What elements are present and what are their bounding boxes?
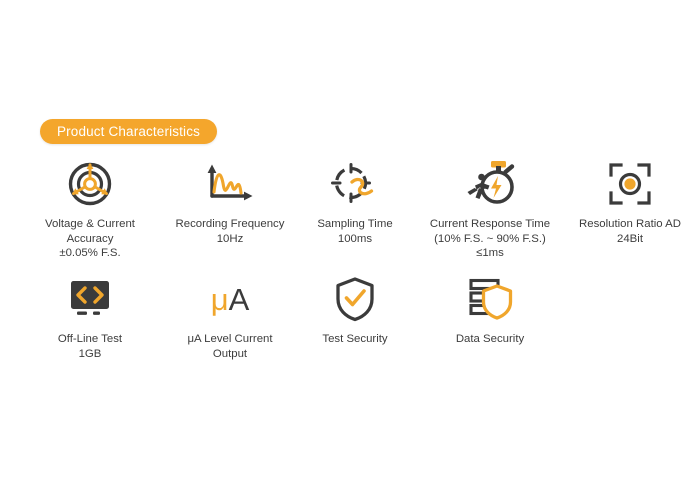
label-line: Voltage & Current [45,217,135,232]
ampere-symbol: A [229,282,250,317]
feature-label-current-response-time: Current Response Time (10% F.S. ~ 90% F.… [430,217,550,261]
label-line: (10% F.S. ~ 90% F.S.) [430,232,550,247]
label-line: ≤1ms [430,246,550,261]
feature-item-micro-ampere-output: μA μA Level Current Output [165,273,295,361]
page-title-badge: Product Characteristics [40,119,217,144]
label-line: Recording Frequency [176,217,285,232]
feature-item-recording-frequency: Recording Frequency 10Hz [165,158,295,261]
label-line: Output [187,347,272,362]
label-line: 100ms [317,232,392,247]
label-line: Resolution Ratio AD [579,217,681,232]
feature-label-sampling-time: Sampling Time 100ms [317,217,392,246]
product-characteristics-page: { "page": { "background_color": "#ffffff… [0,0,700,500]
feature-row-bottom: Off-Line Test 1GB μA μA Level Current Ou… [0,273,700,361]
label-line: Current Response Time [430,217,550,232]
feature-item-sampling-time: Sampling Time 100ms [295,158,415,261]
feature-item-offline-test: Off-Line Test 1GB [15,273,165,361]
stopwatch-runner-icon [462,158,518,210]
label-line: Sampling Time [317,217,392,232]
accuracy-target-icon [62,158,118,210]
label-line: Test Security [322,332,387,347]
label-line: Off-Line Test [58,332,122,347]
page-title: Product Characteristics [57,125,200,139]
waveform-axes-icon [202,158,258,210]
mu-symbol: μ [211,282,229,317]
label-line: 1GB [58,347,122,362]
database-shield-icon [462,273,518,325]
focus-frame-icon [602,158,658,210]
label-line: 10Hz [176,232,285,247]
label-line: Data Security [456,332,524,347]
feature-item-data-security: Data Security [415,273,565,361]
label-line: Accuracy [45,232,135,247]
feature-label-accuracy: Voltage & Current Accuracy ±0.05% F.S. [45,217,135,261]
code-chip-icon [62,273,118,325]
shield-check-icon [327,273,383,325]
label-line: μA Level Current [187,332,272,347]
feature-label-offline-test: Off-Line Test 1GB [58,332,122,361]
feature-label-data-security: Data Security [456,332,524,347]
feature-item-current-response-time: Current Response Time (10% F.S. ~ 90% F.… [415,158,565,261]
feature-label-resolution-ratio: Resolution Ratio AD 24Bit [579,217,681,246]
feature-label-test-security: Test Security [322,332,387,347]
feature-item-accuracy: Voltage & Current Accuracy ±0.05% F.S. [15,158,165,261]
micro-ampere-icon: μA [202,273,258,325]
sampling-time-icon [327,158,383,210]
feature-item-resolution-ratio: Resolution Ratio AD 24Bit [565,158,695,261]
label-line: ±0.05% F.S. [45,246,135,261]
feature-label-micro-ampere-output: μA Level Current Output [187,332,272,361]
label-line: 24Bit [579,232,681,247]
feature-item-test-security: Test Security [295,273,415,361]
feature-label-recording-frequency: Recording Frequency 10Hz [176,217,285,246]
feature-row-top: Voltage & Current Accuracy ±0.05% F.S. R… [0,158,700,261]
